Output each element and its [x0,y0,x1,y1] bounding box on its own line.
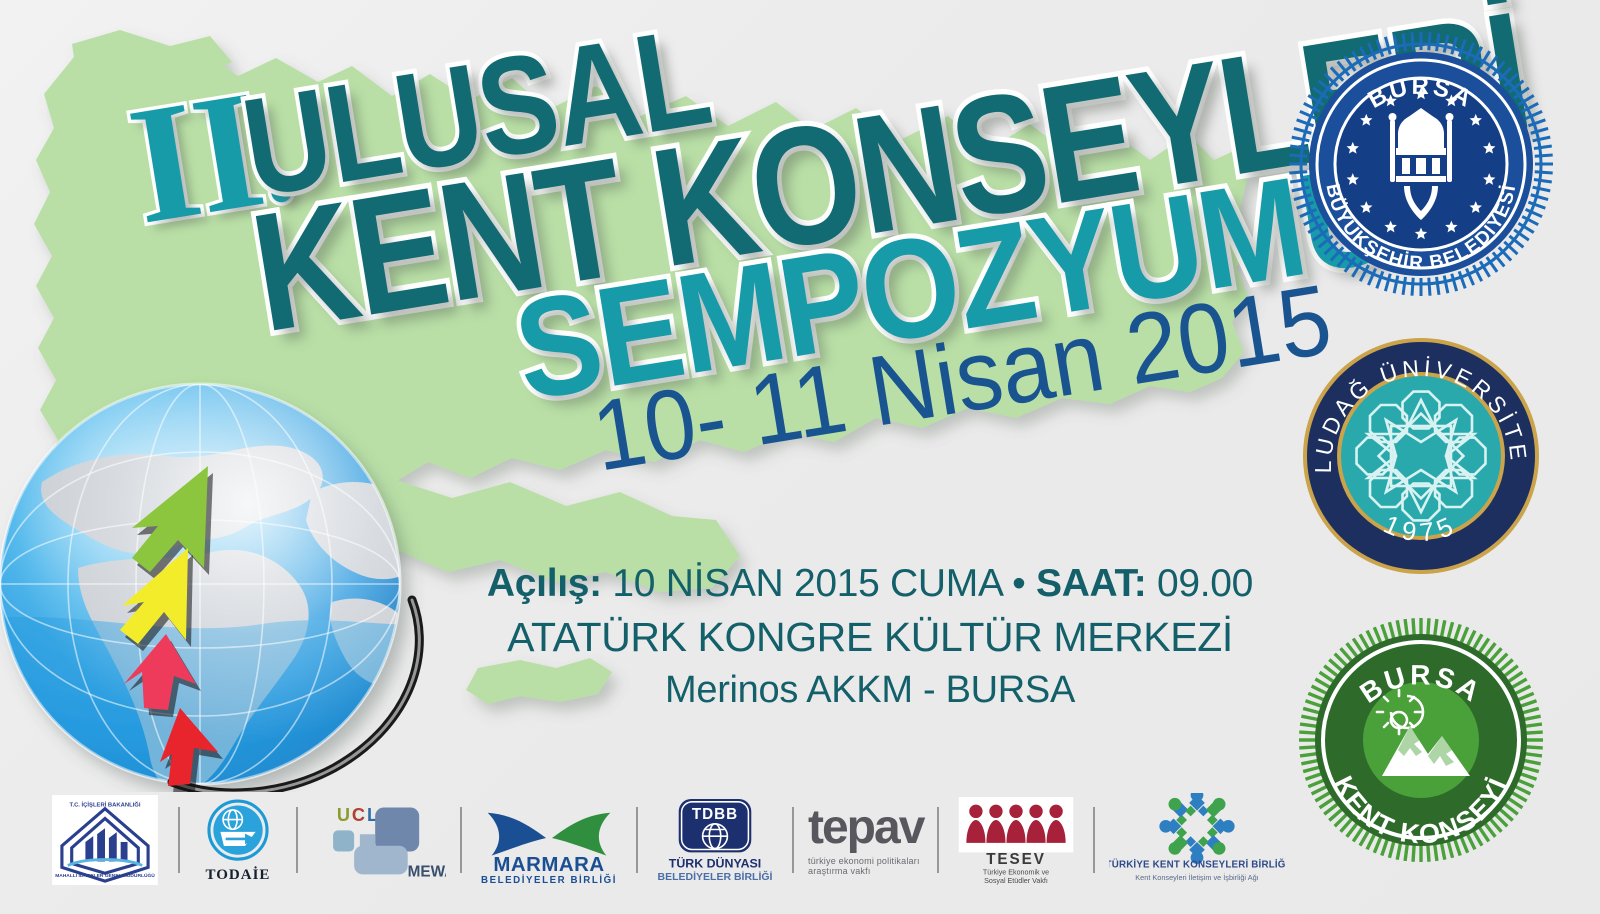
sponsor-logo-strip: T.C. İÇİŞLERİ BAKANLIĞI MAHALLİ İDARELER… [46,788,1256,892]
opening-label: Açılış: [487,562,602,605]
sponsor-mahalli-top-text: T.C. İÇİŞLERİ BAKANLIĞI [70,801,141,809]
sponsor-divider [792,807,794,873]
sponsor-kkb-caption2: Kent Konseyleri İletişim ve İşbirliği Ağ… [1136,873,1259,882]
logo-bursa-kent-konseyi: BURSA KENT KONSEYİ [1286,602,1556,882]
logo-bursa-buyuksehir-belediyesi: BURSA BÜYÜKŞEHİR BELEDİYESİ [1286,18,1556,298]
sponsor-todaie-caption: TODAİE [206,867,271,884]
time-value: 09.00 [1157,562,1253,605]
sponsor-marmara-caption2: BELEDİYELER BİRLİĞİ [481,874,617,885]
sponsor-mewa-caption: MEWA [408,863,446,880]
sponsor-tesev-caption: TESEV [987,851,1047,868]
sponsor-mahalli-idareler: T.C. İÇİŞLERİ BAKANLIĞI MAHALLİ İDARELER… [46,790,164,890]
sponsor-divider [178,807,180,873]
time-label: SAAT: [1036,562,1146,605]
sponsor-marmara-caption: MARMARA [493,853,604,876]
sponsor-kkb-caption: TÜRKİYE KENT KONSEYLERİ BİRLİĞİ [1109,858,1285,870]
sponsor-divider [1093,807,1095,873]
sponsor-tdbb: TDBB TÜRK DÜNYASI BELEDİYELER BİRLİĞİ [652,790,778,890]
sponsor-tdbb-caption: TÜRK DÜNYASI [669,856,761,871]
partner-logo-column: BURSA BÜYÜKŞEHİR BELEDİYESİ [1286,18,1556,894]
sponsor-todaie: TODAİE [194,790,282,890]
sponsor-marmara-belediyeler-birligi: MARMARA BELEDİYELER BİRLİĞİ [476,790,622,890]
sponsor-divider [937,807,939,873]
sponsor-tdbb-mark: TDBB [692,806,738,823]
poster-canvas: II. ULUSAL KENT KONSEYLERİ SEMPOZYUMU 10… [0,0,1600,914]
sponsor-divider [636,807,638,873]
world-globe-with-arrows [0,372,442,792]
sponsor-turkiye-kent-konseyleri-birligi: TÜRKİYE KENT KONSEYLERİ BİRLİĞİ Kent Kon… [1109,790,1285,890]
sponsor-tepav-mark: tepav [808,804,923,852]
sponsor-uclg-mewa: UCLG MEWA [312,790,446,890]
event-venue: ATATÜRK KONGRE KÜLTÜR MERKEZİ [470,614,1270,661]
sponsor-divider [296,807,298,873]
sponsor-divider [460,807,462,873]
event-venue-sub: Merinos AKKM - BURSA [470,669,1270,712]
bullet-separator: • [1012,562,1025,605]
sponsor-tdbb-caption2: BELEDİYELER BİRLİĞİ [658,870,773,883]
sponsor-tesev: TESEV Türkiye Ekonomik ve Sosyal Etüdler… [953,790,1079,890]
sponsor-tepav-caption: türkiye ekonomi politikaları araştırma v… [808,856,923,876]
event-details: Açılış: 10 NİSAN 2015 CUMA • SAAT: 09.00… [470,562,1270,713]
sponsor-tesev-caption2: Türkiye Ekonomik ve [983,868,1049,876]
sponsor-tepav: tepav türkiye ekonomi politikaları araşt… [808,790,923,890]
logo-uludag-universitesi: ULUDAĞ ÜNİVERSİTESİ 1975 [1286,310,1556,590]
opening-value: 10 NİSAN 2015 CUMA [612,562,1001,605]
sponsor-tesev-caption3: Sosyal Etüdler Vakfı [985,877,1049,885]
event-opening-line: Açılış: 10 NİSAN 2015 CUMA • SAAT: 09.00 [470,562,1270,606]
